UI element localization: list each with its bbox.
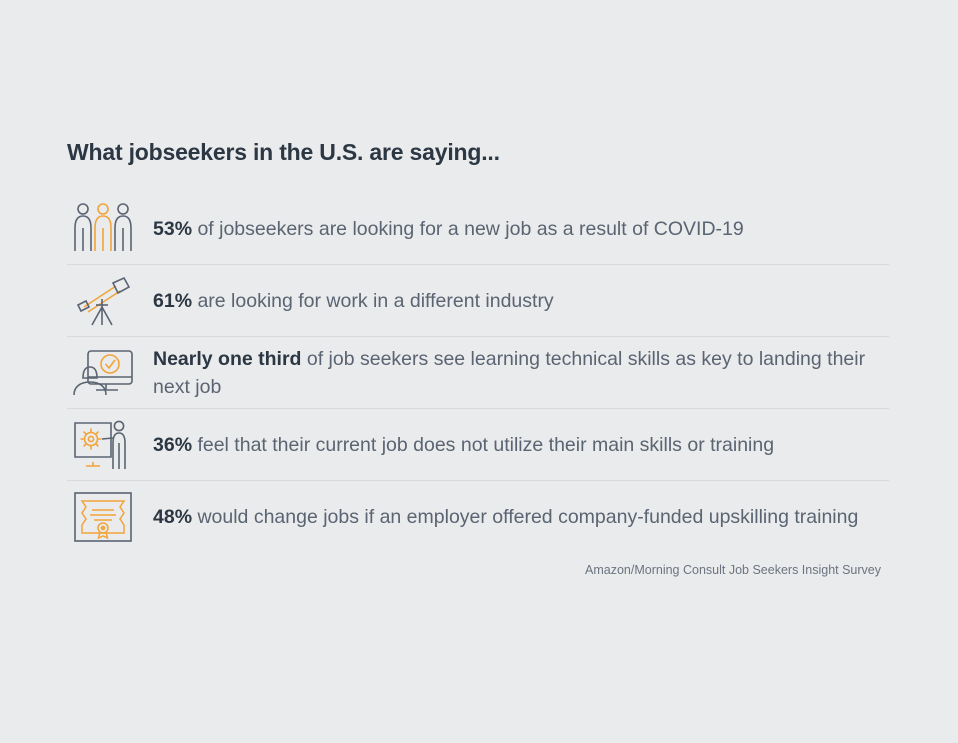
list-item-text: 36% feel that their current job does not… — [139, 431, 774, 459]
stat-value: 61% — [153, 290, 192, 312]
infographic-content: What jobseekers in the U.S. are saying..… — [67, 140, 889, 577]
stat-list: 53% of jobseekers are looking for a new … — [67, 193, 889, 553]
monitor-check-person-icon — [67, 342, 139, 404]
page-title: What jobseekers in the U.S. are saying..… — [67, 140, 889, 165]
list-item: Nearly one third of job seekers see lear… — [67, 337, 889, 409]
three-people-icon — [67, 198, 139, 260]
list-item-text: Nearly one third of job seekers see lear… — [139, 345, 889, 402]
list-item-text: 61% are looking for work in a different … — [139, 287, 554, 315]
stat-value: 53% — [153, 218, 192, 240]
infographic-canvas: What jobseekers in the U.S. are saying..… — [0, 0, 958, 743]
telescope-icon — [67, 270, 139, 332]
list-item: 48% would change jobs if an employer off… — [67, 481, 889, 553]
list-item: 53% of jobseekers are looking for a new … — [67, 193, 889, 265]
list-item-text: 48% would change jobs if an employer off… — [139, 503, 858, 531]
stat-description: feel that their current job does not uti… — [192, 434, 774, 456]
stat-description: would change jobs if an employer offered… — [192, 506, 858, 528]
source-attribution: Amazon/Morning Consult Job Seekers Insig… — [67, 563, 889, 577]
presentation-gear-person-icon — [67, 414, 139, 476]
stat-value: 36% — [153, 434, 192, 456]
certificate-icon — [67, 486, 139, 548]
list-item: 36% feel that their current job does not… — [67, 409, 889, 481]
stat-value: Nearly one third — [153, 348, 301, 370]
stat-description: are looking for work in a different indu… — [192, 290, 554, 312]
stat-description: of jobseekers are looking for a new job … — [192, 218, 744, 240]
list-item-text: 53% of jobseekers are looking for a new … — [139, 215, 744, 243]
list-item: 61% are looking for work in a different … — [67, 265, 889, 337]
stat-value: 48% — [153, 506, 192, 528]
